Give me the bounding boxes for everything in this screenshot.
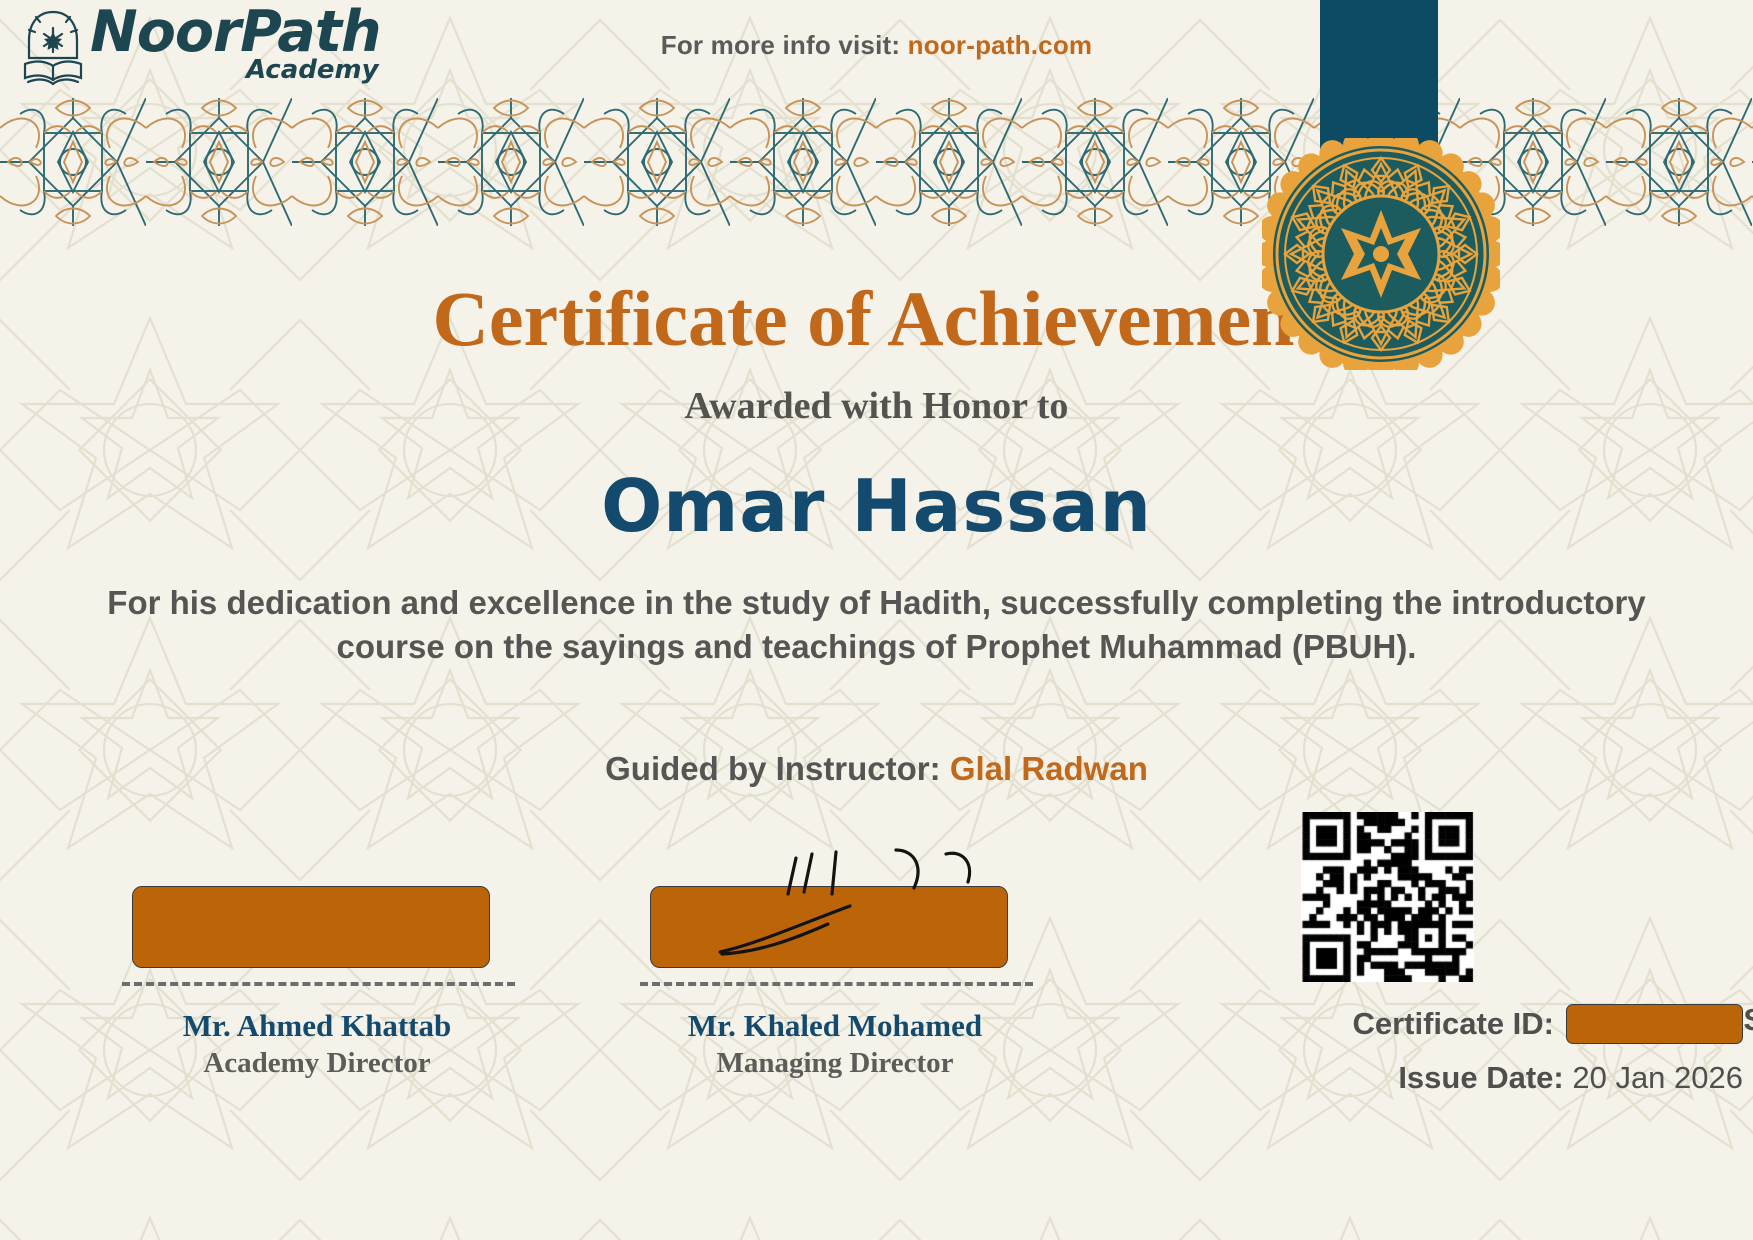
instructor-label: Guided by Instructor: xyxy=(605,750,941,787)
certificate-id-row: Certificate ID: S xyxy=(1123,1004,1743,1044)
certificate-document: NoorPath Academy For more info visit: no… xyxy=(0,0,1753,1240)
issue-date-label: Issue Date: xyxy=(1398,1060,1563,1095)
signature-redaction-box xyxy=(132,886,490,968)
certificate-body: Certificate of Achievement Awarded with … xyxy=(0,226,1753,1240)
issue-date-row: Issue Date: 20 Jan 2026 xyxy=(1123,1060,1743,1096)
qr-code[interactable] xyxy=(1301,812,1474,982)
instructor-line: Guided by Instructor: Glal Radwan xyxy=(0,750,1753,788)
certificate-id-label: Certificate ID: xyxy=(1352,1006,1554,1042)
description-text: For his dedication and excellence in the… xyxy=(95,581,1658,669)
award-seal-medallion xyxy=(1262,138,1500,370)
signature-block-left: Mr. Ahmed Khattab Academy Director xyxy=(122,886,512,1080)
info-line: For more info visit: noor-path.com xyxy=(0,30,1753,61)
qr-code-canvas xyxy=(1301,812,1474,982)
signatory-name: Mr. Ahmed Khattab xyxy=(122,1008,512,1044)
awarded-label: Awarded with Honor to xyxy=(0,384,1753,428)
signatory-name: Mr. Khaled Mohamed xyxy=(640,1008,1030,1044)
certificate-meta: Certificate ID: S Issue Date: 20 Jan 202… xyxy=(1123,1004,1743,1096)
issue-date-value: 20 Jan 2026 xyxy=(1572,1060,1743,1095)
signatory-role: Academy Director xyxy=(122,1047,512,1080)
signature-block-right: Mr. Khaled Mohamed Managing Director xyxy=(640,886,1030,1080)
website-link[interactable]: noor-path.com xyxy=(908,30,1093,60)
recipient-name: Omar Hassan xyxy=(0,464,1753,548)
instructor-name: Glal Radwan xyxy=(950,750,1148,787)
signature-redaction-box xyxy=(650,886,1008,968)
certificate-id-redaction-box: S xyxy=(1566,1004,1743,1044)
info-label: For more info visit: xyxy=(661,30,900,60)
certificate-id-visible-tail: S xyxy=(1743,1002,1753,1038)
signatory-role: Managing Director xyxy=(640,1047,1030,1080)
signature-rule xyxy=(122,982,515,986)
certificate-header: NoorPath Academy For more info visit: no… xyxy=(0,0,1753,105)
signature-rule xyxy=(640,982,1033,986)
